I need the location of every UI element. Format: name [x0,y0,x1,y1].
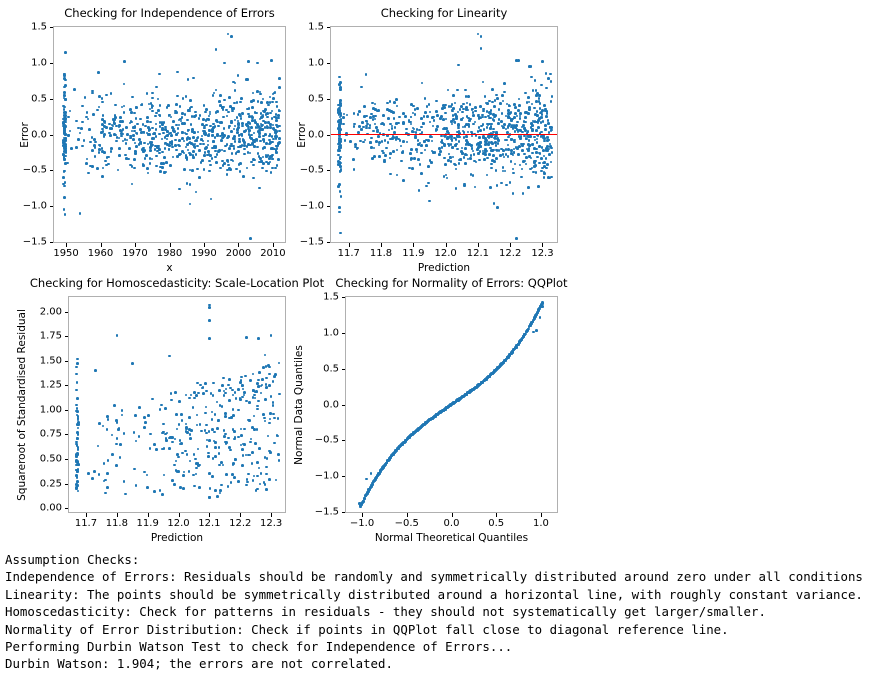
y-tickmark [342,333,346,334]
y-tick-label: −1.0 [299,471,339,482]
x-tick-label: 1.0 [533,518,549,529]
console-output: Assumption Checks:Independence of Errors… [5,551,895,673]
x-tick-label: 0.0 [444,518,460,529]
plot-area-qqplot [345,296,558,513]
matplotlib-figure: Checking for Independence of Errors19501… [0,0,895,545]
data-point [527,328,530,331]
y-tickmark [342,405,346,406]
x-tick-label: 0.5 [488,518,504,529]
data-point [370,472,373,475]
data-point [535,329,538,332]
data-point [539,316,542,319]
y-tick-label: −1.5 [299,507,339,518]
y-tick-label: −0.5 [299,435,339,446]
y-tick-label: 1.0 [299,327,339,338]
console-line: Performing Durbin Watson Test to check f… [5,638,895,655]
console-line: Linearity: The points should be symmetri… [5,586,895,603]
y-tick-label: 1.5 [299,292,339,303]
console-line: Homoscedasticity: Check for patterns in … [5,603,895,620]
y-tickmark [342,512,346,513]
y-tickmark [342,297,346,298]
console-line: Durbin Watson: 1.904; the errors are not… [5,655,895,672]
chart-title-qqplot: Checking for Normality of Errors: QQPlot [285,276,618,290]
x-axis-label-qqplot: Normal Theoretical Quantiles [345,532,558,544]
data-point [365,478,368,481]
console-line: Independence of Errors: Residuals should… [5,568,895,585]
x-tick-label: −0.5 [395,518,419,529]
y-tick-label: 0.5 [299,363,339,374]
y-tickmark [342,440,346,441]
x-tickmark [407,513,408,517]
chart-panel-qqplot: Checking for Normality of Errors: QQPlot… [0,0,895,545]
console-line: Assumption Checks: [5,551,895,568]
x-tickmark [496,513,497,517]
y-tick-label: 0.0 [299,399,339,410]
x-tick-label: −1.0 [350,518,374,529]
data-point [358,502,361,505]
y-axis-label-qqplot: Normal Data Quantiles [293,345,305,465]
data-point [541,305,544,308]
y-tickmark [342,369,346,370]
console-line: Normality of Error Distribution: Check i… [5,621,895,638]
x-tickmark [541,513,542,517]
x-tickmark [362,513,363,517]
y-tickmark [342,476,346,477]
data-point [541,301,544,304]
x-tickmark [452,513,453,517]
